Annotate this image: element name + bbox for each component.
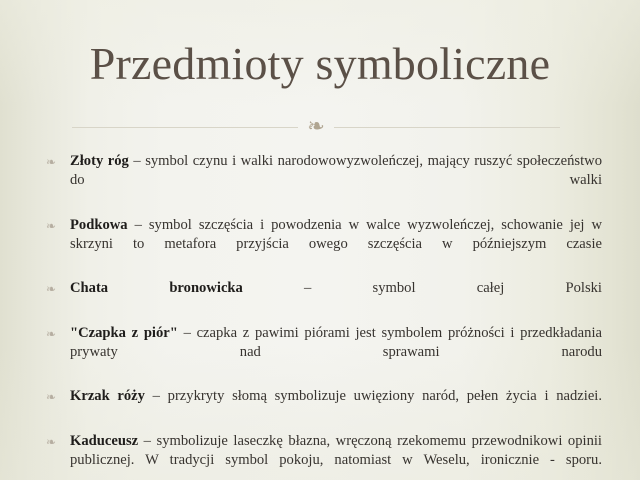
list-item-body: – przykryty słomą symbolizuje uwięziony …: [145, 388, 602, 404]
flourish-ornament-icon: ❧: [298, 116, 334, 137]
bullet-list: ❧ Złoty róg – symbol czynu i walki narod…: [46, 152, 602, 480]
bullet-ornament-icon: ❧: [46, 432, 70, 452]
list-item-text: "Czapka z piór" – czapka z pawimi pióram…: [70, 324, 602, 382]
list-item-text: Podkowa – symbol szczęścia i powodzenia …: [70, 216, 602, 274]
list-item-text: Kaduceusz – symbolizuje laseczkę błazna,…: [70, 432, 602, 480]
list-item-body: – symbolizuje laseczkę błazna, wręczoną …: [70, 433, 602, 468]
divider-line-right: [334, 127, 560, 128]
list-item-text: Złoty róg – symbol czynu i walki narodow…: [70, 152, 602, 210]
list-item-lead: Kaduceusz: [70, 433, 138, 449]
list-item-lead: "Czapka z piór": [70, 325, 178, 341]
list-item-body: – symbol całej Polski: [243, 280, 602, 296]
slide: Przedmioty symboliczne ❧ ❧ Złoty róg – s…: [0, 0, 640, 480]
title-divider: ❧: [72, 112, 560, 142]
list-item: ❧ Krzak róży – przykryty słomą symbolizu…: [46, 387, 602, 425]
list-item: ❧ Podkowa – symbol szczęścia i powodzeni…: [46, 216, 602, 274]
list-item-lead: Krzak róży: [70, 388, 145, 404]
list-item-lead: Złoty róg: [70, 153, 129, 169]
list-item: ❧ "Czapka z piór" – czapka z pawimi piór…: [46, 324, 602, 382]
list-item: ❧ Kaduceusz – symbolizuje laseczkę błazn…: [46, 432, 602, 480]
list-item: ❧ Złoty róg – symbol czynu i walki narod…: [46, 152, 602, 210]
bullet-ornament-icon: ❧: [46, 279, 70, 299]
bullet-ornament-icon: ❧: [46, 324, 70, 344]
bullet-ornament-icon: ❧: [46, 152, 70, 172]
list-item-body: – symbol szczęścia i powodzenia w walce …: [70, 217, 602, 252]
list-item-text: Chata bronowicka – symbol całej Polski: [70, 279, 602, 317]
list-item: ❧ Chata bronowicka – symbol całej Polski: [46, 279, 602, 317]
divider-line-left: [72, 127, 298, 128]
list-item-body: – symbol czynu i walki narodowowyzwoleńc…: [70, 153, 602, 188]
page-title: Przedmioty symboliczne: [0, 36, 640, 92]
list-item-lead: Chata bronowicka: [70, 280, 243, 296]
bullet-ornament-icon: ❧: [46, 216, 70, 236]
list-item-lead: Podkowa: [70, 217, 128, 233]
list-item-text: Krzak róży – przykryty słomą symbolizuje…: [70, 387, 602, 425]
bullet-ornament-icon: ❧: [46, 387, 70, 407]
